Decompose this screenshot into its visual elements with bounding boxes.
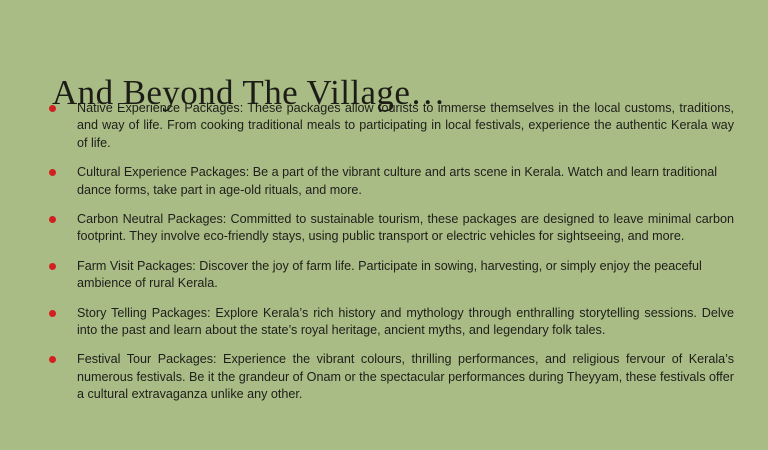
list-item-text: Farm Visit Packages: Discover the joy of… <box>77 258 734 293</box>
list-item: Farm Visit Packages: Discover the joy of… <box>44 258 734 293</box>
list-item-text: Story Telling Packages: Explore Kerala’s… <box>77 305 734 340</box>
bullet-dot-icon <box>49 263 56 270</box>
bullet-dot-icon <box>49 169 56 176</box>
list-item-text: Cultural Experience Packages: Be a part … <box>77 164 734 199</box>
list-item: Festival Tour Packages: Experience the v… <box>44 351 734 403</box>
bullet-list: Native Experience Packages: These packag… <box>44 100 734 404</box>
list-item: Native Experience Packages: These packag… <box>44 100 734 152</box>
bullet-dot-icon <box>49 216 56 223</box>
bullet-dot-icon <box>49 105 56 112</box>
list-item: Carbon Neutral Packages: Committed to su… <box>44 211 734 246</box>
presentation-slide: And Beyond The Village… Native Experienc… <box>0 0 768 450</box>
list-item-text: Native Experience Packages: These packag… <box>77 100 734 152</box>
list-item-text: Carbon Neutral Packages: Committed to su… <box>77 211 734 246</box>
bullet-dot-icon <box>49 356 56 363</box>
bullet-dot-icon <box>49 310 56 317</box>
list-item: Story Telling Packages: Explore Kerala’s… <box>44 305 734 340</box>
list-item: Cultural Experience Packages: Be a part … <box>44 164 734 199</box>
list-item-text: Festival Tour Packages: Experience the v… <box>77 351 734 403</box>
